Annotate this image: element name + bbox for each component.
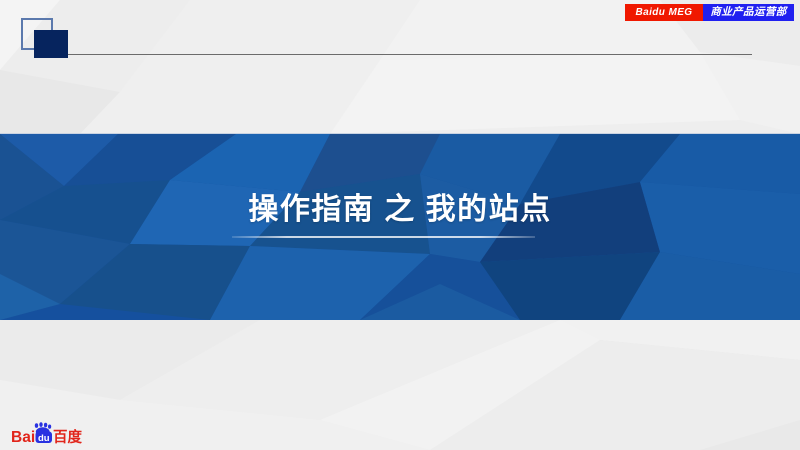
- decor-filled-square: [34, 30, 68, 58]
- baidu-logo: Bai du 百度: [11, 421, 85, 445]
- logo-wordmark-cn: 百度: [53, 428, 82, 445]
- header-badge-group: Baidu MEG 商业产品运营部: [625, 4, 794, 21]
- department-badge: 商业产品运营部: [703, 4, 794, 21]
- page-title-underline: [232, 236, 535, 238]
- title-band: [0, 134, 800, 320]
- band-polygon-texture: [0, 134, 800, 320]
- slide-root: Baidu MEG 商业产品运营部 操作指南 之 我的站点: [0, 0, 800, 450]
- baidu-meg-badge: Baidu MEG: [625, 4, 703, 21]
- header-divider: [68, 54, 752, 55]
- logo-wordmark-bai: Bai: [11, 429, 35, 445]
- logo-wordmark-du: du: [38, 433, 50, 444]
